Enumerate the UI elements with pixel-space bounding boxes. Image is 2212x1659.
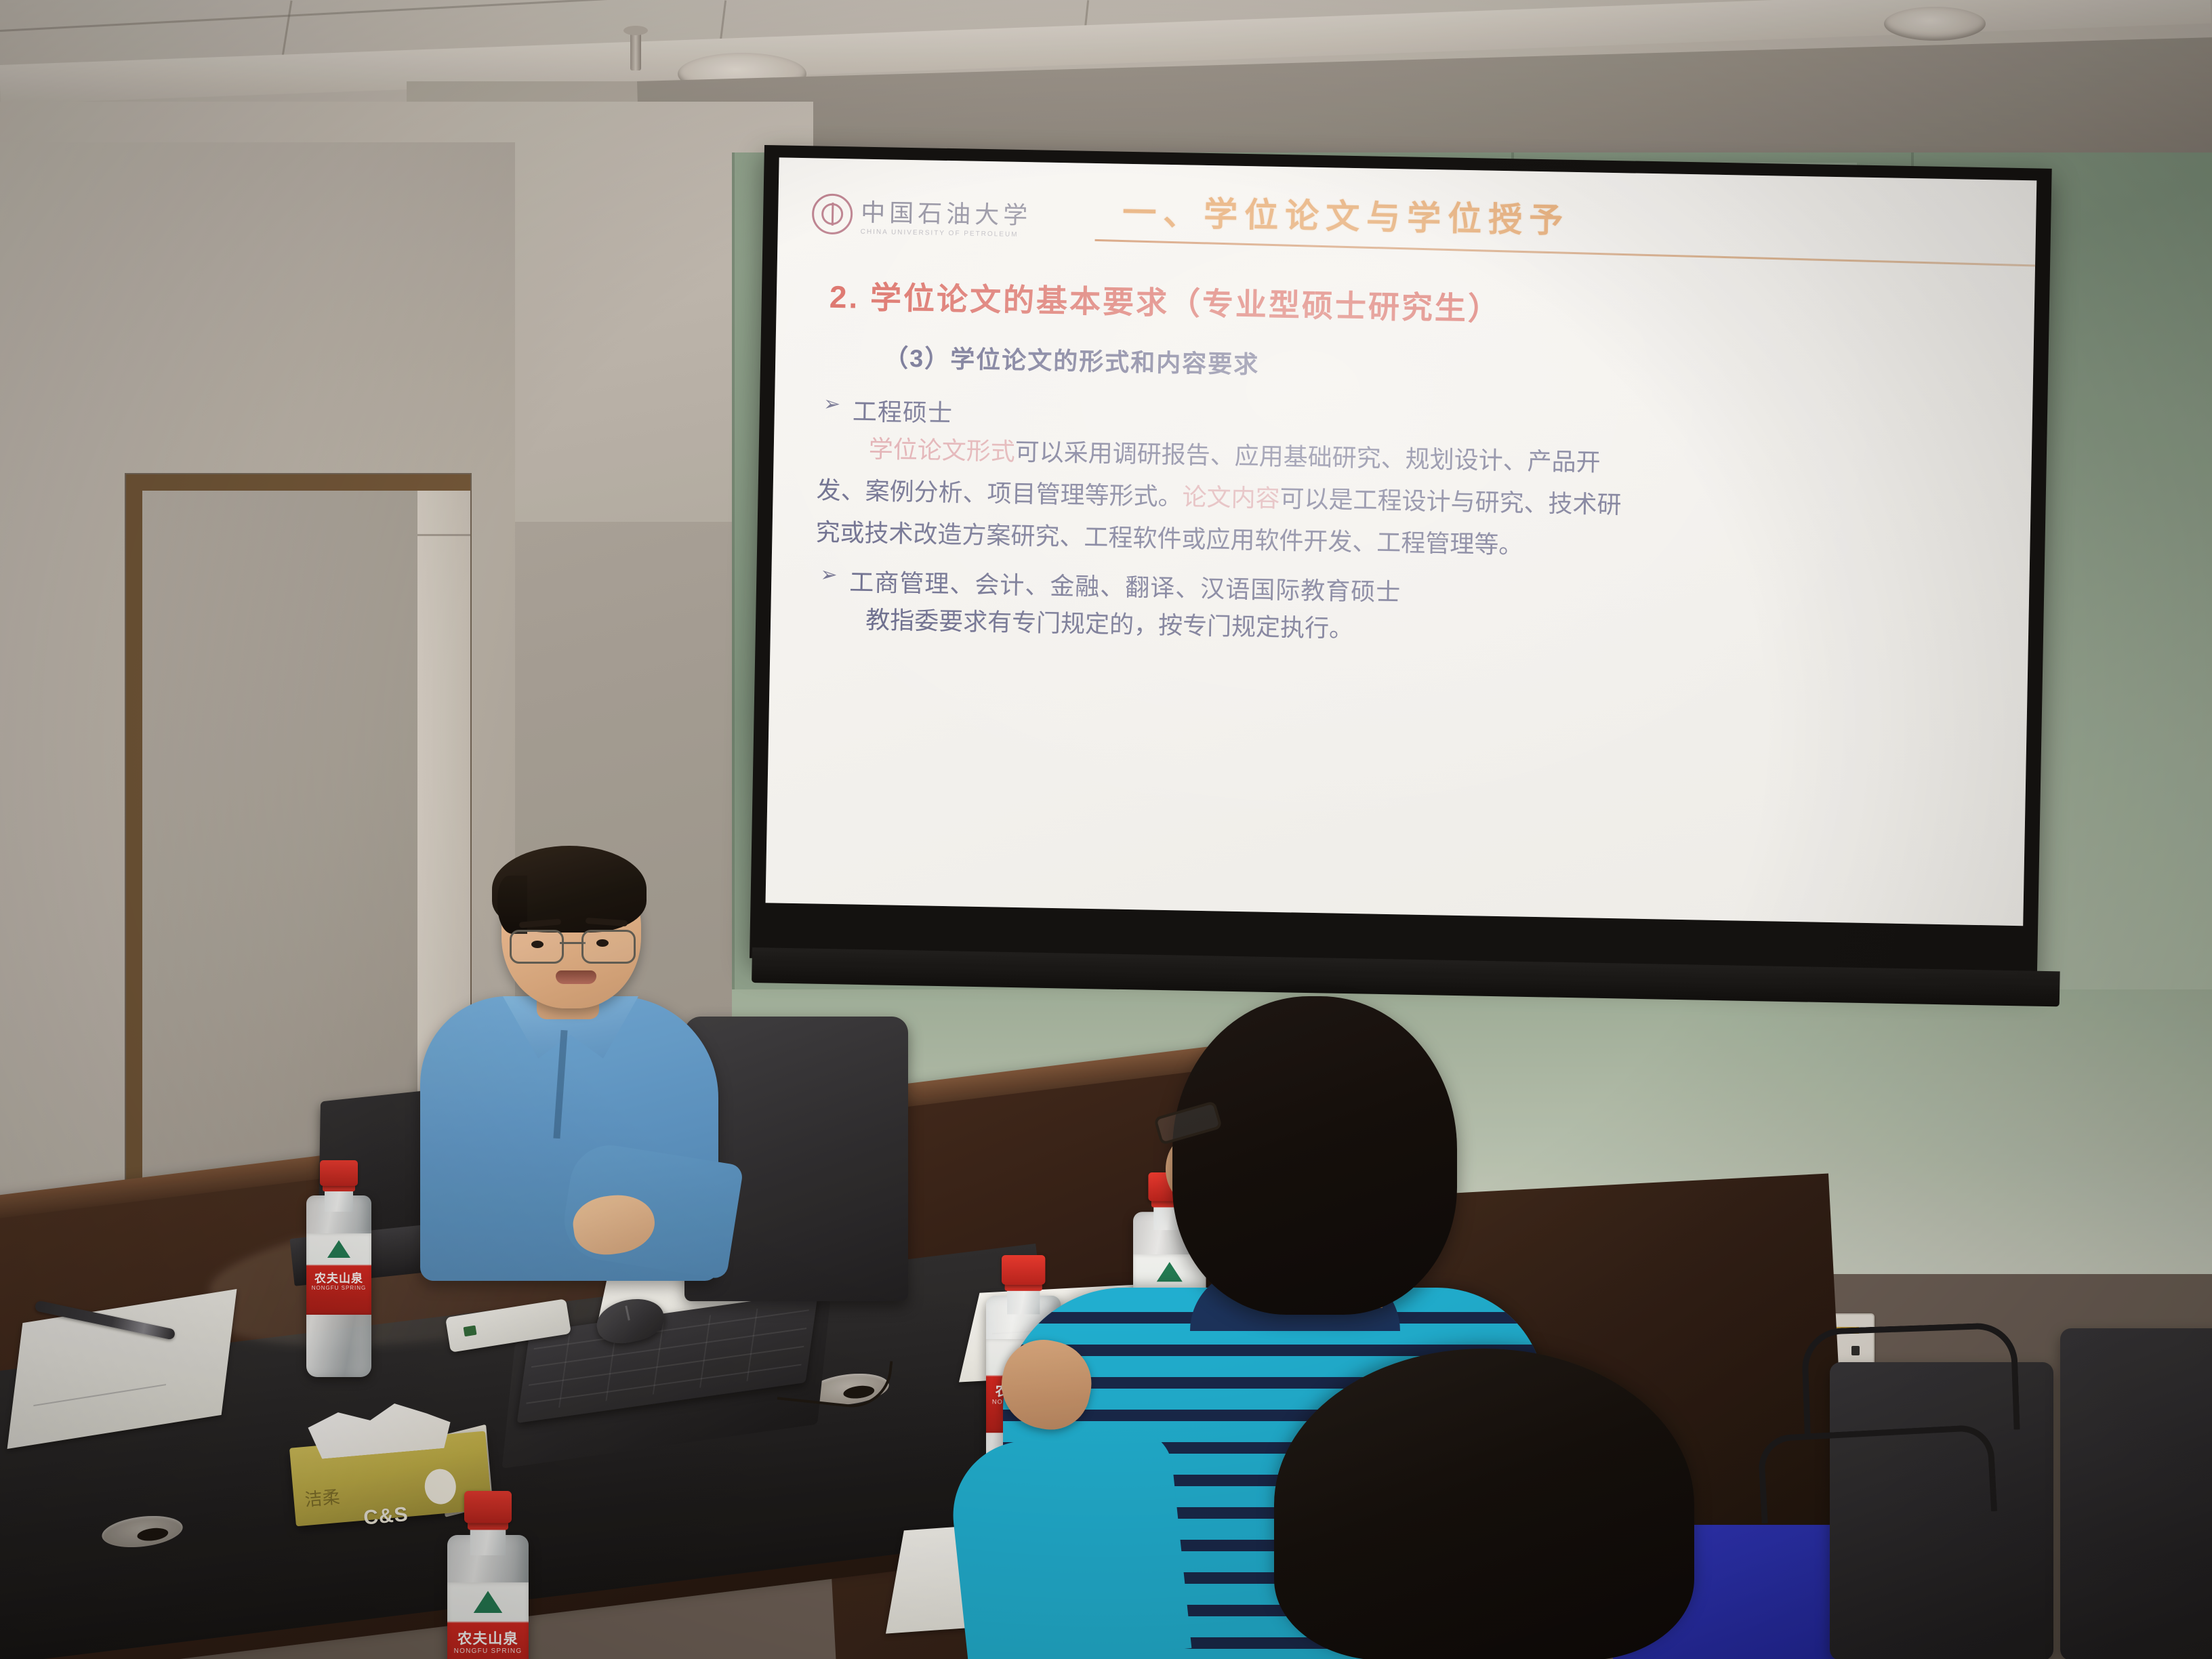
arrow-bullet-icon: ➢ — [823, 394, 841, 415]
bottle-brand-cn: 农夫山泉 — [306, 1269, 371, 1286]
chair-armrest — [1801, 1322, 2020, 1437]
tissue-brand-cn: 洁柔 — [304, 1483, 341, 1511]
logo-name-cn: 中国石油大学 — [861, 193, 1032, 232]
slide-section-heading: （3）学位论文的形式和内容要求 — [884, 338, 1260, 380]
slide-title: 一、学位论文与学位授予 — [1122, 186, 1570, 243]
highlight-text: 学位论文形式 — [868, 435, 1015, 466]
highlight-text: 论文内容 — [1182, 483, 1280, 512]
mountain-icon — [327, 1240, 350, 1258]
body-line: 教指委要求有专门规定的，按专门规定执行。 — [865, 600, 1354, 649]
body-text: 可以是工程设计与研究、技术研 — [1279, 485, 1622, 518]
presenter-mouth — [556, 970, 596, 984]
bottle-label: 农夫山泉 NONGFU SPRING — [447, 1582, 529, 1659]
glasses-icon — [510, 930, 636, 960]
meeting-room-photo: 中国石油大学 CHINA UNIVERSITY OF PETROLEUM 一、学… — [0, 0, 2212, 1659]
chair[interactable] — [2060, 1328, 2212, 1659]
title-underline — [1094, 239, 2036, 267]
presentation-slide: 中国石油大学 CHINA UNIVERSITY OF PETROLEUM 一、学… — [766, 157, 2037, 926]
bullet-label: 工程硕士 — [853, 392, 954, 429]
bottle-brand-en: NONGFU SPRING — [447, 1647, 529, 1654]
attendee-arm — [946, 1426, 1192, 1659]
bottle-brand-cn: 农夫山泉 — [447, 1626, 529, 1647]
university-logo: 中国石油大学 CHINA UNIVERSITY OF PETROLEUM — [812, 192, 1032, 239]
water-bottle: 农夫山泉 NONGFU SPRING — [306, 1160, 371, 1377]
bottle-brand-en: NONGFU SPRING — [306, 1285, 371, 1291]
sprinkler-icon — [630, 31, 641, 70]
bottle-cap — [320, 1160, 358, 1186]
logo-emblem-icon — [812, 193, 853, 234]
slide-subtitle: 2. 学位论文的基本要求（专业型硕士研究生） — [829, 272, 1501, 329]
chair-armrest — [1757, 1424, 1997, 1523]
attendee-head — [1172, 996, 1457, 1315]
attendee-head — [1274, 1349, 1694, 1659]
slide-header: 中国石油大学 CHINA UNIVERSITY OF PETROLEUM 一、学… — [803, 173, 2011, 268]
bottle-label: 农夫山泉 NONGFU SPRING — [306, 1233, 371, 1315]
tissue-brand: C&S — [363, 1503, 409, 1530]
downlight-icon — [1884, 7, 1986, 41]
bottle-cap — [464, 1491, 512, 1523]
body-text: 可以采用调研报告、应用基础研究、规划设计、产品开 — [1015, 438, 1601, 476]
bullet-item: ➢ 工程硕士 — [823, 392, 953, 429]
bottle-cap — [1002, 1255, 1045, 1285]
mountain-icon — [1157, 1262, 1183, 1282]
mountain-icon — [474, 1591, 503, 1614]
body-text: 发、案例分析、项目管理等形式。 — [816, 476, 1183, 510]
projection-screen: 中国石油大学 CHINA UNIVERSITY OF PETROLEUM 一、学… — [750, 145, 2052, 982]
arrow-bullet-icon: ➢ — [820, 565, 838, 586]
water-bottle: 农夫山泉 NONGFU SPRING — [447, 1491, 529, 1659]
